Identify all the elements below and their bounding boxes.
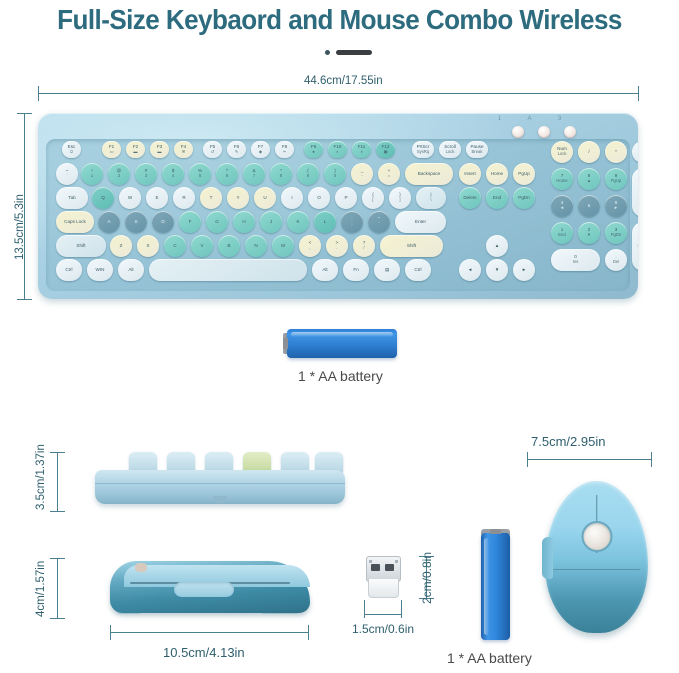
key-label: Shift (76, 244, 85, 249)
key-f10[interactable]: F10◐ (328, 141, 347, 158)
key-k[interactable]: K (287, 211, 309, 233)
key-sublabel: ▣ (384, 150, 388, 155)
key-y[interactable]: Y (227, 187, 249, 209)
key-alt[interactable]: Alt (118, 259, 144, 281)
key-[interactable]: <, (299, 235, 321, 257)
usb-plastic-body (368, 579, 399, 598)
key-f12[interactable]: F12▣ (376, 141, 395, 158)
key-num[interactable]: NumLock (551, 141, 573, 163)
key-label: S (134, 220, 137, 225)
key-label: H (242, 220, 245, 225)
key-b[interactable]: B (218, 235, 240, 257)
caption-battery-bottom: 1 * AA battery (447, 650, 532, 666)
key-[interactable]: $4 (162, 163, 184, 185)
key-label: Shift (407, 244, 416, 249)
led-label-capslock: A (525, 116, 534, 122)
key-tab[interactable]: Tab (56, 187, 88, 209)
key-sublabel: / (363, 246, 364, 251)
key-[interactable]: )0 (324, 163, 346, 185)
key-z[interactable]: Z (110, 235, 132, 257)
key-r[interactable]: R (173, 187, 195, 209)
key-label: Enter (638, 244, 639, 249)
separator-dot-icon (325, 50, 330, 55)
key-m[interactable]: M (272, 235, 294, 257)
key-label: WIN (96, 268, 105, 273)
mouse-side-view (110, 553, 310, 615)
key-t[interactable]: T (200, 187, 222, 209)
key-label: Backspace (418, 172, 440, 177)
key-f4[interactable]: F4✉ (174, 141, 193, 158)
dimension-line-mouse-length (110, 632, 308, 633)
dimension-tick-mouse-h-bottom (50, 618, 65, 619)
key-[interactable]: {[ (362, 187, 384, 209)
key-label: A (107, 220, 110, 225)
dimension-mouse-height: 4cm/1.57in (35, 561, 47, 617)
key-label: W (128, 196, 132, 201)
dimension-line-keyboard-thickness (57, 452, 58, 511)
key-sublabel: 5 (199, 174, 201, 179)
key-7[interactable]: 7Home (551, 168, 573, 190)
key-sublabel: 3 (145, 174, 147, 179)
key-sublabel: ◐ (336, 150, 339, 155)
keyboard-led-labels: 1 A 3 (495, 116, 564, 122)
key-s[interactable]: S (125, 211, 147, 233)
key-sublabel: \ (430, 198, 431, 203)
dimension-tick-mouse-len-right (308, 625, 309, 640)
led-indicator-numlock (512, 126, 524, 138)
key-w[interactable]: W (119, 187, 141, 209)
key-label: * (615, 150, 617, 155)
key-label: Insert (464, 172, 476, 177)
key-p[interactable]: P (335, 187, 357, 209)
key-sublabel: ► (614, 206, 618, 211)
dimension-usb-height: 2cm/0.8in (420, 552, 434, 604)
key-esc[interactable]: Esc⏻ (62, 141, 81, 158)
key-sublabel: 4 (172, 174, 174, 179)
key-d[interactable]: D (152, 211, 174, 233)
dimension-tick-mouse-h-top (50, 558, 65, 559)
key-caps-lock[interactable]: Caps Lock (56, 211, 94, 233)
key-[interactable]: .Del (605, 249, 627, 271)
mouse-side-thumb-rest (174, 582, 234, 597)
key-5[interactable]: 5 (578, 195, 600, 217)
battery-gloss-vertical (484, 538, 489, 635)
aa-battery-horizontal (287, 329, 397, 358)
key-f[interactable]: F (179, 211, 201, 233)
dimension-tick-thickness-bottom (50, 511, 65, 512)
key-enter[interactable]: Enter (395, 211, 446, 233)
key-sublabel: PgUp (611, 179, 621, 184)
key-2[interactable]: 2▼ (578, 222, 600, 244)
key-sublabel: ✎ (235, 150, 239, 155)
led-indicator-capslock (538, 126, 550, 138)
key-[interactable]: !1 (81, 163, 103, 185)
battery-gloss (291, 332, 393, 337)
key-[interactable]: + (632, 168, 638, 217)
key-label: E (155, 196, 158, 201)
key-[interactable]: ► (513, 259, 535, 281)
key-backspace[interactable]: Backspace (405, 163, 453, 185)
key-sublabel: ; (351, 222, 352, 227)
key-f11[interactable]: F11◑ (352, 141, 371, 158)
key-label: O (317, 196, 321, 201)
dimension-keyboard-width: 44.6cm/17.55in (304, 75, 383, 87)
key-label: Delete (463, 196, 476, 201)
key-f5[interactable]: F5↺ (203, 141, 222, 158)
key-sublabel: - (361, 174, 362, 179)
key-[interactable]: ▼ (486, 259, 508, 281)
key-label: Fn (353, 268, 358, 273)
caption-battery-top: 1 * AA battery (298, 368, 383, 384)
key-sublabel: ✉ (182, 150, 186, 155)
key-8[interactable]: 8▲ (578, 168, 600, 190)
mouse-top-view (545, 481, 648, 633)
key-9[interactable]: 9PgUp (605, 168, 627, 190)
key-f9[interactable]: F9● (304, 141, 323, 158)
key-e[interactable]: E (146, 187, 168, 209)
key-sublabel: ▭ (110, 150, 114, 155)
key-sublabel: PgDn (611, 233, 621, 238)
key-i[interactable]: I (281, 187, 303, 209)
key-label: / (588, 150, 589, 155)
dimension-tick-right (638, 86, 639, 101)
key-0[interactable]: 0Ins (551, 249, 600, 271)
key-shift[interactable]: Shift (380, 235, 443, 257)
key-sublabel: Lock (558, 152, 567, 157)
key-label: C (173, 244, 176, 249)
key-f2[interactable]: F2▬ (126, 141, 145, 158)
key-sublabel: 8 (280, 174, 282, 179)
key-shift[interactable]: Shift (56, 235, 106, 257)
usb-notch-left (369, 560, 372, 563)
dimension-tick-thickness-top (50, 452, 65, 453)
key-sublabel: ▲ (587, 179, 591, 184)
key-pgdn[interactable]: PgDn (513, 187, 535, 209)
key-label: I (291, 196, 292, 201)
key-ctrl[interactable]: Ctrl (56, 259, 82, 281)
dimension-tick-mouse-w-left (527, 452, 528, 467)
key-[interactable]: #3 (135, 163, 157, 185)
key-label: PgDn (518, 196, 530, 201)
key-f1[interactable]: F1▭ (102, 141, 121, 158)
separator-dash-icon (336, 50, 372, 55)
key-[interactable]: - (632, 141, 638, 163)
dimension-line-keyboard-width (38, 93, 638, 94)
key-ctrl[interactable]: Ctrl (405, 259, 431, 281)
key-label: B (227, 244, 230, 249)
dimension-usb-width: 1.5cm/0.6in (352, 622, 414, 636)
key-insert[interactable]: Insert (459, 163, 481, 185)
key-sublabel: ] (399, 198, 400, 203)
keyboard-side-foot (213, 496, 227, 503)
key-sublabel: [ (372, 198, 373, 203)
dimension-mouse-length: 10.5cm/4.13in (163, 645, 245, 660)
key-label: D (161, 220, 164, 225)
key-sublabel: ⏻ (70, 150, 73, 155)
key-sublabel: SysRq (417, 150, 429, 155)
key-1[interactable]: 1End (551, 222, 573, 244)
key-label: 5 (588, 204, 591, 209)
key-sublabel: . (336, 246, 337, 251)
key-sublabel: ↺ (211, 150, 215, 155)
key-label: Y (236, 196, 239, 201)
dimension-tick-mouse-len-left (110, 625, 111, 640)
dimension-tick-mouse-w-right (651, 452, 652, 467)
key-label: R (182, 196, 185, 201)
dimension-tick-usb-w-right (401, 600, 402, 618)
key-label: Tab (68, 196, 75, 201)
key-l[interactable]: L (314, 211, 336, 233)
key-label: Home (491, 172, 503, 177)
key-pgup[interactable]: PgUp (513, 163, 535, 185)
scroll-wheel-icon (135, 563, 147, 572)
key-[interactable]: ~` (56, 163, 78, 185)
key-label: Enter (415, 220, 426, 225)
key-scroll[interactable]: ScrollLock (439, 141, 461, 158)
key-sublabel: ● (312, 150, 315, 155)
key-label: End (493, 196, 501, 201)
key-[interactable]: %5 (189, 163, 211, 185)
usb-receiver (366, 556, 399, 598)
dimension-mouse-width: 7.5cm/2.95in (531, 434, 605, 449)
key-sublabel: ◆ (259, 150, 262, 155)
key-sublabel: ` (66, 174, 67, 179)
decorative-separator (325, 50, 372, 55)
key-[interactable]: ▤ (374, 259, 400, 281)
key-[interactable]: }] (389, 187, 411, 209)
key-f3[interactable]: F3▬ (150, 141, 169, 158)
key-j[interactable]: J (260, 211, 282, 233)
key-[interactable]: += (378, 163, 400, 185)
key-label: Ctrl (414, 268, 421, 273)
key-sublabel: Del (613, 260, 619, 265)
key-label: Z (120, 244, 123, 249)
infographic-page: Full-Size Keybaord and Mouse Combo Wirel… (0, 0, 679, 673)
key-label: ► (522, 268, 527, 273)
dimension-tick-usb-w-left (364, 600, 365, 618)
key-[interactable]: *8 (270, 163, 292, 185)
key-h[interactable]: H (233, 211, 255, 233)
dimension-line-usb-width (364, 614, 401, 615)
led-indicator-scrolllock (564, 126, 576, 138)
scroll-wheel-top-icon (581, 521, 612, 552)
key-f8[interactable]: F8✂ (275, 141, 294, 158)
key-g[interactable]: G (206, 211, 228, 233)
key-[interactable]: ◄ (459, 259, 481, 281)
key-label: Alt (322, 268, 327, 273)
key-alt[interactable]: Alt (312, 259, 338, 281)
key-label: ▤ (385, 268, 389, 273)
dimension-line-keyboard-height (24, 113, 25, 299)
key-label: X (146, 244, 149, 249)
key-label: ◄ (468, 268, 473, 273)
key-sublabel: 9 (307, 174, 309, 179)
key-[interactable]: (9 (297, 163, 319, 185)
mouse-shell-seam (553, 569, 640, 570)
key-sublabel: Ins (573, 260, 579, 265)
page-title: Full-Size Keybaord and Mouse Combo Wirel… (24, 0, 655, 40)
key-label: F (189, 220, 192, 225)
key-v[interactable]: V (191, 235, 213, 257)
usb-notch-right (395, 560, 398, 563)
keyboard-top-strip: 1 A 3 (38, 113, 638, 140)
key-label: ▲ (495, 244, 500, 249)
key-label: P (344, 196, 347, 201)
key-sublabel: Break (472, 150, 483, 155)
key-label: T (210, 196, 213, 201)
key-f6[interactable]: F6✎ (227, 141, 246, 158)
dimension-line-mouse-width (527, 459, 651, 460)
aa-battery-vertical (481, 533, 510, 640)
key-[interactable]: >. (326, 235, 348, 257)
key-sublabel: ▬ (157, 150, 161, 155)
dimension-tick-top (17, 113, 32, 114)
key-sublabel: , (309, 246, 310, 251)
key-sublabel: 0 (334, 174, 336, 179)
key-[interactable]: "' (368, 211, 390, 233)
dimension-tick-bottom (17, 299, 32, 300)
led-label-numlock: 1 (495, 116, 504, 122)
key-label: Q (101, 196, 105, 201)
key-6[interactable]: 6► (605, 195, 627, 217)
key-[interactable]: &7 (243, 163, 265, 185)
key-sublabel: ' (379, 222, 380, 227)
key-[interactable]: / (578, 141, 600, 163)
key-q[interactable]: Q (92, 187, 114, 209)
key-sublabel: 7 (253, 174, 255, 179)
key-label: G (215, 220, 219, 225)
key-3[interactable]: 3PgDn (605, 222, 627, 244)
key-o[interactable]: O (308, 187, 330, 209)
key-sublabel: ▼ (587, 233, 591, 238)
key-f7[interactable]: F7◆ (251, 141, 270, 158)
keyboard-top-view: 1 A 3 Esc⏻F1▭F2▬F3▬F4✉F5↺F6✎F7◆F8✂F9●F10… (38, 113, 638, 299)
key-[interactable]: ?/ (353, 235, 375, 257)
key-label: K (296, 220, 299, 225)
key-end[interactable]: End (486, 187, 508, 209)
mouse-side-body (110, 561, 310, 613)
key-label: V (200, 244, 203, 249)
key-a[interactable]: A (98, 211, 120, 233)
key-[interactable]: ▲ (486, 235, 508, 257)
key-label: Ctrl (65, 268, 72, 273)
key-win[interactable]: WIN (87, 259, 113, 281)
key-label: PgUp (518, 172, 530, 177)
key-sublabel: ✂ (283, 150, 287, 155)
key-fn[interactable]: Fn (343, 259, 369, 281)
keyboard-side-view (95, 452, 345, 504)
key-[interactable]: :; (341, 211, 363, 233)
keyboard-led-indicators (512, 126, 576, 138)
key-[interactable]: |\ (416, 187, 446, 209)
key-label: N (254, 244, 257, 249)
keyboard-key-well: Esc⏻F1▭F2▬F3▬F4✉F5↺F6✎F7◆F8✂F9●F10◐F11◑F… (46, 139, 630, 291)
key-label: M (281, 244, 285, 249)
key-label: Alt (128, 268, 133, 273)
key-4[interactable]: 4◄ (551, 195, 573, 217)
mouse-side-button (542, 537, 553, 579)
key-enter[interactable]: Enter (632, 222, 638, 271)
key-sublabel: Home (556, 179, 567, 184)
key-[interactable]: @2 (108, 163, 130, 185)
key-prtscr[interactable]: PrtScrSysRq (412, 141, 434, 158)
dimension-tick-left (38, 86, 39, 101)
key-[interactable]: _- (351, 163, 373, 185)
key-sublabel: = (388, 174, 390, 179)
key-sublabel: ◄ (560, 206, 564, 211)
key-sublabel: 2 (118, 174, 120, 179)
dimension-line-mouse-height (57, 558, 58, 618)
mouse-top-body (545, 481, 648, 633)
key-label: L (324, 220, 327, 225)
key-c[interactable]: C (164, 235, 186, 257)
key-delete[interactable]: Delete (459, 187, 481, 209)
dimension-keyboard-thickness: 3.5cm/1.37in (35, 444, 47, 510)
key-n[interactable]: N (245, 235, 267, 257)
key-sublabel: 6 (226, 174, 228, 179)
key-sublabel: Lock (446, 150, 455, 155)
key-label: Caps Lock (64, 220, 86, 225)
key-u[interactable]: U (254, 187, 276, 209)
key-pause[interactable]: PauseBreak (466, 141, 488, 158)
key-sublabel: ▬ (133, 150, 137, 155)
key-home[interactable]: Home (486, 163, 508, 185)
key-label: J (270, 220, 272, 225)
led-label-scrolllock: 3 (555, 116, 564, 122)
key-sublabel: 1 (91, 174, 93, 179)
key-sublabel: End (558, 233, 565, 238)
key-label: U (263, 196, 266, 201)
key-space[interactable] (149, 259, 307, 281)
key-label: ▼ (495, 268, 500, 273)
key-sublabel: ◑ (360, 150, 363, 155)
key-x[interactable]: X (137, 235, 159, 257)
key-[interactable]: ^6 (216, 163, 238, 185)
key-[interactable]: * (605, 141, 627, 163)
